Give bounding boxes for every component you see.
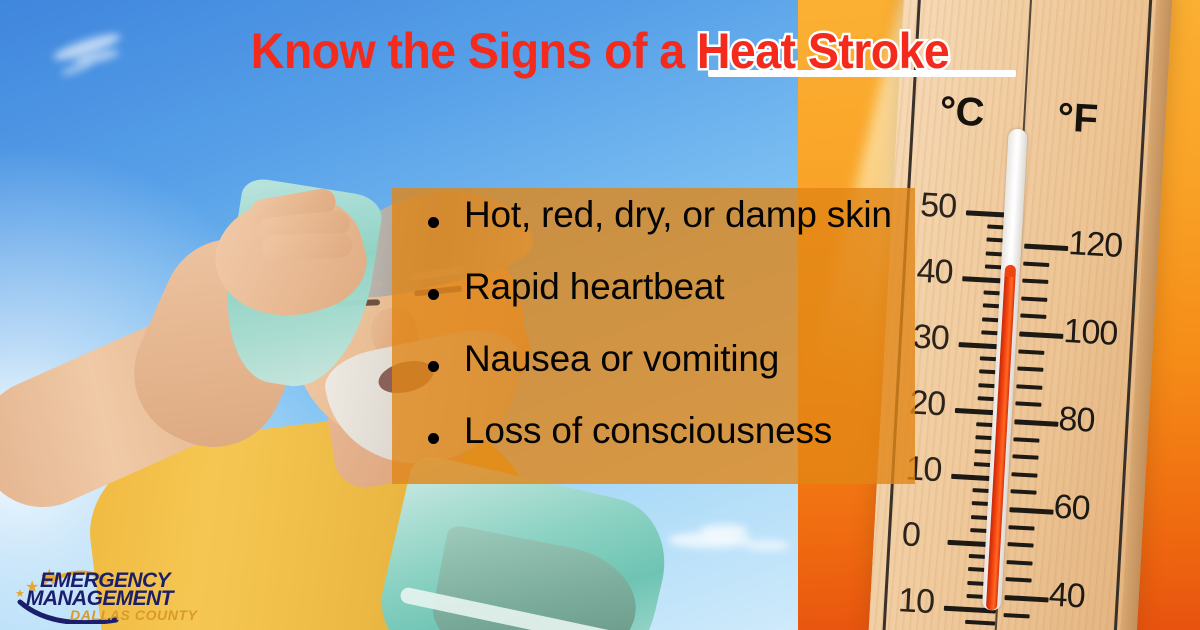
scale-label: 120: [1067, 224, 1123, 266]
dallas-county-emergency-management-logo[interactable]: ★ ★ ★ EMERGENCY MANAGEMENT DALLAS COUNTY: [8, 558, 220, 624]
scale-tick-minor: [1018, 349, 1044, 354]
scale-label: 40: [1048, 576, 1086, 617]
scale-tick-minor: [1008, 525, 1034, 530]
scale-tick-minor: [1021, 296, 1047, 301]
heat-stroke-infographic: °C °F 504030201001020 12010080604020 Hot…: [0, 0, 1200, 630]
cloud-puff: [744, 540, 790, 551]
scale-tick-minor: [1020, 314, 1046, 319]
symptom-text: Rapid heartbeat: [464, 268, 724, 305]
bullet-dot-icon: [428, 289, 439, 300]
scale-tick-minor: [1016, 384, 1042, 389]
scale-tick-major: [1014, 419, 1058, 426]
scale-label: 80: [1058, 400, 1096, 441]
scale-label: 0: [901, 515, 921, 555]
symptom-item: Hot, red, dry, or damp skin: [420, 196, 1020, 268]
symptom-text: Nausea or vomiting: [464, 340, 779, 377]
scale-tick-minor: [1007, 542, 1033, 547]
scale-tick-minor: [1010, 490, 1036, 495]
symptom-text: Hot, red, dry, or damp skin: [464, 196, 892, 233]
bullet-dot-icon: [428, 217, 439, 228]
scale-tick-minor: [1022, 279, 1048, 284]
scale-tick-major: [1024, 244, 1068, 251]
scale-label: 60: [1053, 488, 1091, 529]
scale-tick-major: [1009, 507, 1053, 514]
finger: [262, 232, 353, 260]
scale-tick-minor: [1005, 577, 1031, 582]
symptom-item: Nausea or vomiting: [420, 340, 1020, 412]
bullet-dot-icon: [428, 361, 439, 372]
symptoms-list: Hot, red, dry, or damp skinRapid heartbe…: [420, 196, 1020, 484]
title-underline: [708, 70, 1016, 77]
scale-tick-minor: [1023, 261, 1049, 266]
scale-tick-major: [1019, 331, 1063, 338]
bullet-dot-icon: [428, 433, 439, 444]
scale-label: 100: [1062, 312, 1118, 354]
scale-tick-minor: [1006, 560, 1032, 565]
symptom-item: Rapid heartbeat: [420, 268, 1020, 340]
scale-tick-major: [1004, 595, 1048, 602]
scale-label: 10: [897, 581, 935, 622]
scale-tick-minor: [1017, 367, 1043, 372]
symptom-text: Loss of consciousness: [464, 412, 832, 449]
cloud-puff: [700, 524, 748, 538]
scale-tick-minor: [1004, 613, 1030, 618]
logo-line-dallas-county: DALLAS COUNTY: [70, 607, 198, 623]
scale-tick-minor: [965, 620, 995, 626]
symptom-item: Loss of consciousness: [420, 412, 1020, 484]
title-plain-text: Know the Signs of a: [251, 23, 697, 79]
